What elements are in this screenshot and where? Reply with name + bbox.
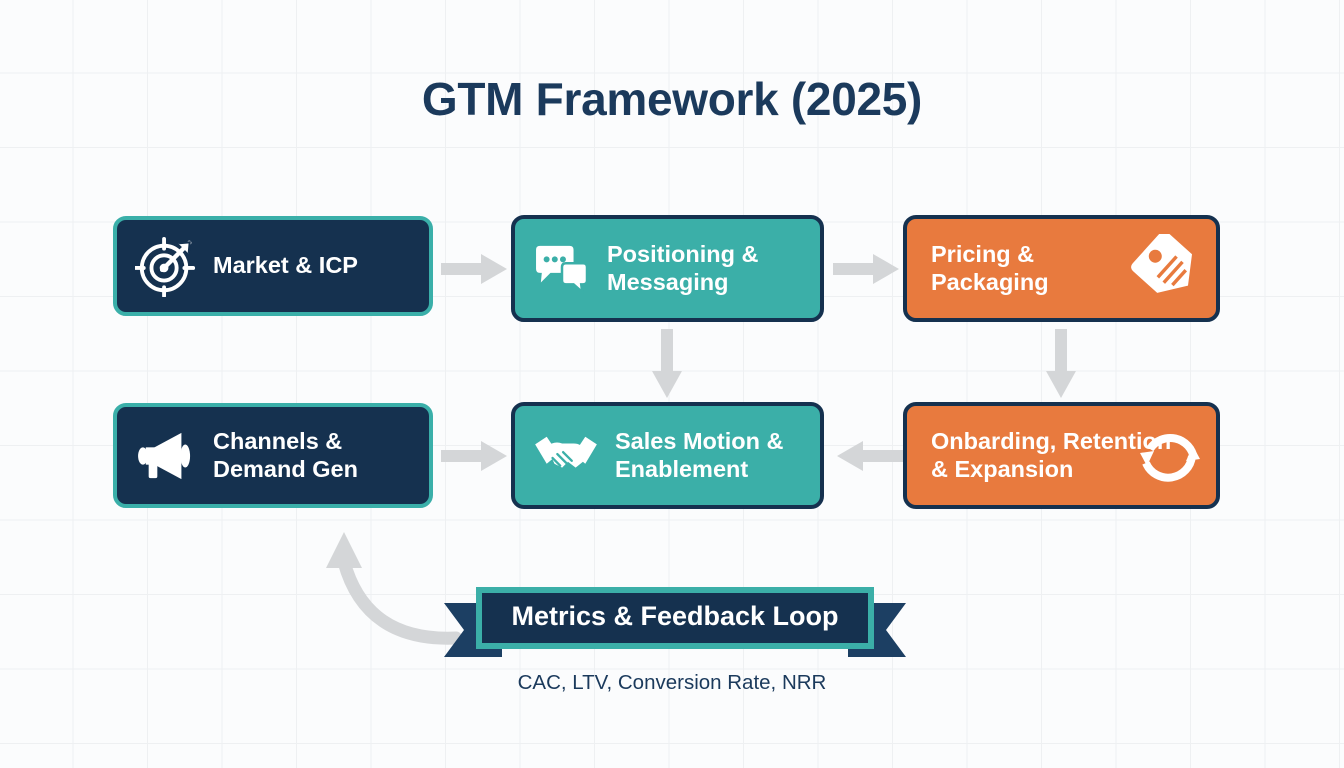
node-label: Positioning & Messaging [607,241,758,296]
arrow-right-icon-market-to-positioning [441,252,511,286]
price-tag-icon [1130,234,1206,304]
arrow-right-icon-channels-to-sales [441,439,511,473]
ribbon-caption: CAC, LTV, Conversion Rate, NRR [0,671,1344,695]
node-onbarding-retention-expansion[interactable]: Onbarding, Retention & Expansion [903,402,1220,509]
ribbon-label: Metrics & Feedback Loop [442,585,908,647]
arrow-right-icon-positioning-to-pricing [833,252,903,286]
node-label: Market & ICP [213,252,358,279]
arrow-left-icon-onbarding-to-sales [833,439,903,473]
target-arrow-icon [135,235,197,297]
node-channels-demand-gen[interactable]: Channels & Demand Gen [113,403,433,508]
arrow-down-icon-pricing-to-onbarding [1044,329,1078,401]
node-label: Pricing & Packaging [931,241,1049,296]
megaphone-icon [135,430,197,482]
node-label: Onbarding, Retention & Expansion [931,428,1171,483]
node-label: Sales Motion & Enablement [615,428,783,483]
diagram-canvas: GTM Framework (2025) Market & ICP [0,0,1344,768]
page-title: GTM Framework (2025) [0,72,1344,126]
handshake-icon [533,429,599,483]
metrics-feedback-ribbon[interactable]: Metrics & Feedback Loop [442,585,908,665]
node-sales-motion-enablement[interactable]: Sales Motion & Enablement [511,402,824,509]
node-pricing-packaging[interactable]: Pricing & Packaging [903,215,1220,322]
node-market-icp[interactable]: Market & ICP [113,216,433,316]
chat-bubbles-icon [533,244,591,294]
node-label: Channels & Demand Gen [213,428,358,483]
arrow-down-icon-positioning-to-sales [650,329,684,401]
node-positioning-messaging[interactable]: Positioning & Messaging [511,215,824,322]
